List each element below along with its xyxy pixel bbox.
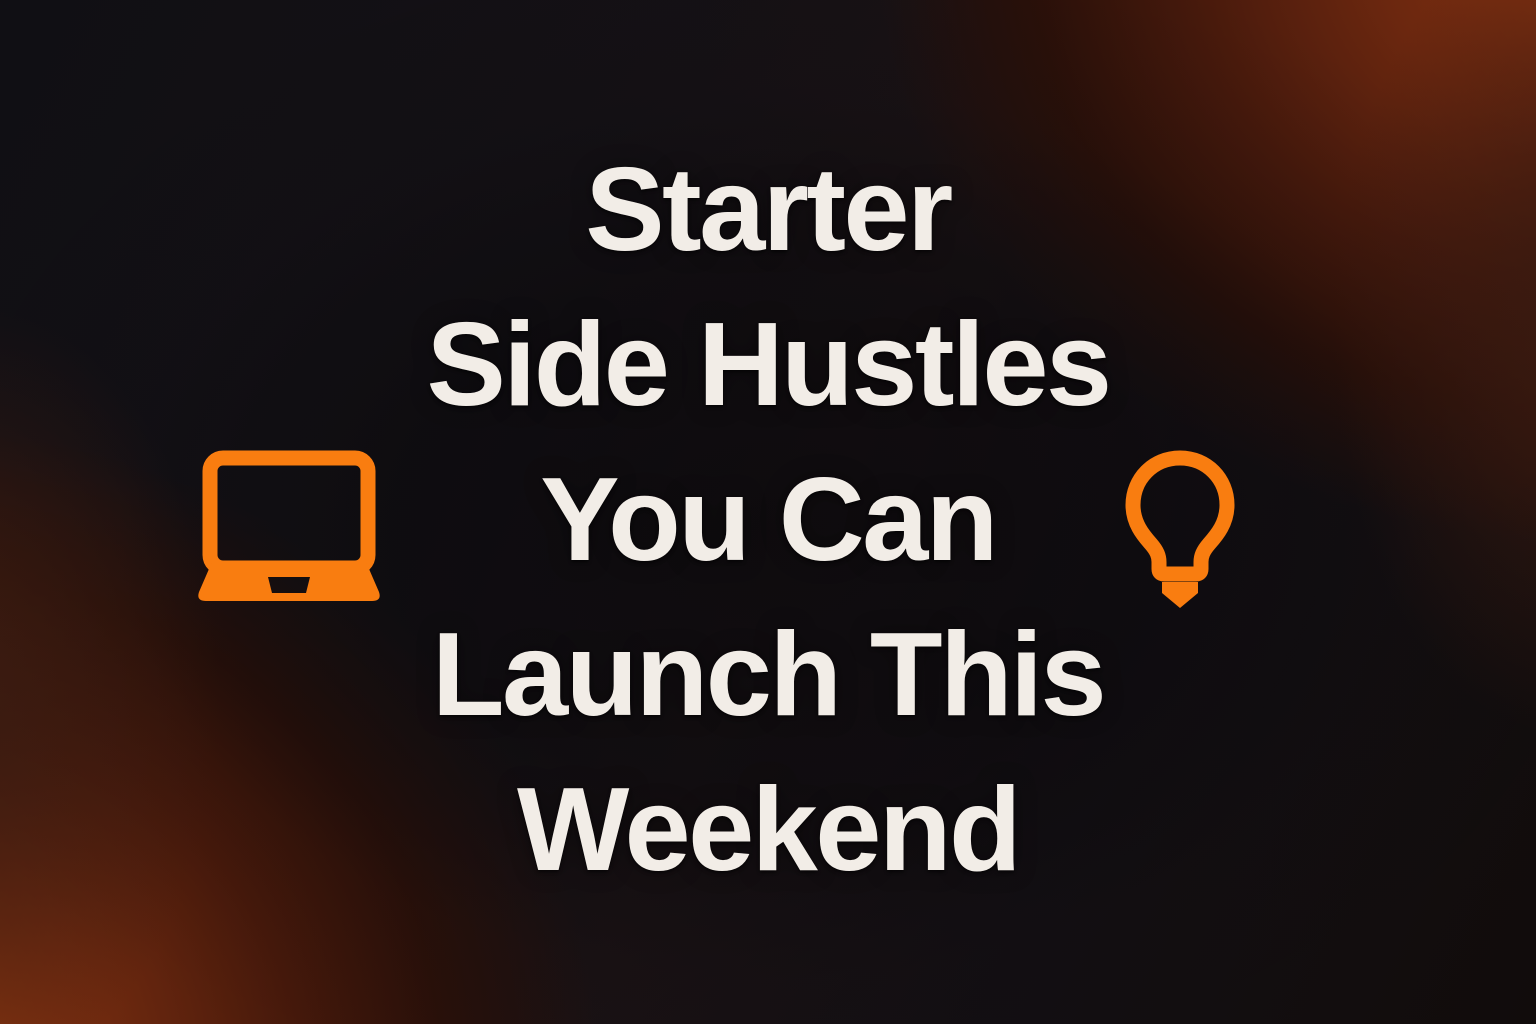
headline-line-4: Launch This: [0, 597, 1536, 752]
headline-line-2: Side Hustles: [0, 287, 1536, 442]
title-card: Starter Side Hustles You Can Launch This…: [0, 0, 1536, 1024]
headline-line-1: Starter: [0, 132, 1536, 287]
laptop-icon: [196, 452, 382, 608]
lightbulb-icon: [1124, 448, 1236, 612]
headline-line-5: Weekend: [0, 752, 1536, 907]
